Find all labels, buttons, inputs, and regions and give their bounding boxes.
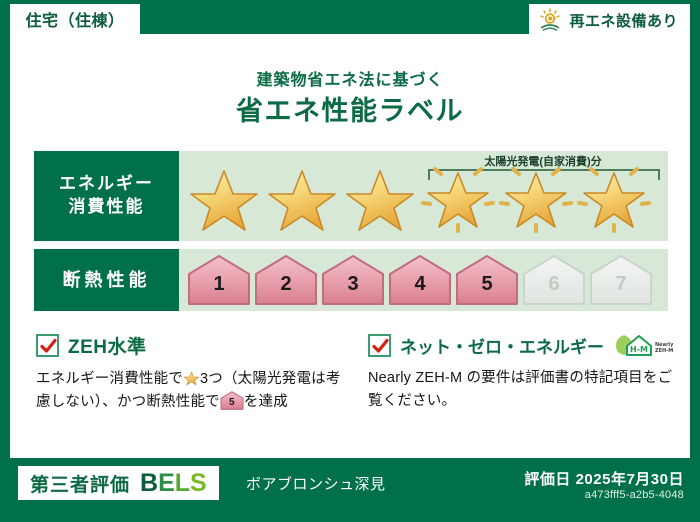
star-item-sparkle (575, 159, 653, 233)
owner-name: ボアブロンシュ深見 (246, 473, 386, 494)
star-icon (497, 159, 575, 233)
star-item-sparkle (497, 159, 575, 233)
zeh-desc-part3: を達成 (244, 394, 288, 410)
title-main: 省エネ性能ラベル (10, 89, 690, 128)
insulation-label-text: 断熱性能 (63, 268, 151, 292)
criteria-net-zero-energy: ネット・ゼロ・エネルギー H-M Nearly ZEH-M Nearly ZEH… (368, 332, 686, 414)
evaluation-date-label: 評価日 (524, 471, 571, 488)
insulation-level-item: 6 (522, 254, 586, 306)
building-type-label: 住宅（住棟） (25, 7, 124, 31)
criteria-zeh-standard: ZEH水準 エネルギー消費性能で3つ（太陽光発電は考慮しない）、かつ断熱性能で5… (36, 332, 354, 415)
star-item-sparkle (419, 159, 497, 233)
star-icon (263, 159, 341, 233)
label-card: 建築物省エネ法に基づく 省エネ性能ラベル エネルギー 消費性能 太陽光発電(自家… (10, 34, 690, 458)
star-icon (185, 159, 263, 233)
insulation-level-item: 3 (321, 254, 385, 306)
title-subtitle: 建築物省エネ法に基づく (10, 66, 690, 90)
insulation-level-item: 1 (187, 254, 251, 306)
insulation-performance-row: 断熱性能 (34, 249, 668, 311)
star-icon (419, 159, 497, 233)
third-party-label: 第三者評価 (30, 470, 130, 497)
bels-letter-s: S (190, 469, 207, 497)
insulation-level-value: 1 (187, 254, 251, 306)
star-item (341, 159, 419, 233)
nearly-zeh-m-logo-icon: H-M Nearly ZEH-M (613, 332, 675, 358)
bels-logo-text: BELS (140, 471, 207, 496)
star-icon (575, 159, 653, 233)
bels-certification-mark: 第三者評価 BELS (18, 466, 219, 500)
insulation-level-value: 3 (321, 254, 385, 306)
zeh-m-caption-line2: ZEH-M (655, 348, 673, 354)
insulation-level-value: 7 (589, 254, 653, 306)
criteria-zeh-header: ZEH水準 (36, 332, 354, 359)
bels-letter-l: L (175, 469, 190, 497)
energy-performance-row: エネルギー 消費性能 太陽光発電(自家消費)分 (34, 151, 668, 241)
insulation-level-value: 4 (388, 254, 452, 306)
insulation-performance-panel: 1 2 3 (179, 249, 668, 311)
insulation-level-item: 4 (388, 254, 452, 306)
insulation-level-item: 7 (589, 254, 653, 306)
building-type-tag: 住宅（住棟） (10, 4, 140, 34)
net-zero-checkbox[interactable] (368, 334, 391, 357)
house-badge-inline-value: 5 (220, 391, 244, 410)
renewable-badge-label: 再エネ設備あり (569, 10, 678, 31)
star-item (263, 159, 341, 233)
insulation-level-value: 6 (522, 254, 586, 306)
zeh-title: ZEH水準 (68, 332, 147, 359)
solar-sun-icon (537, 8, 563, 32)
zeh-desc-part1: エネルギー消費性能で (36, 371, 183, 387)
footer: 第三者評価 BELS ボアブロンシュ深見 評価日 2025年7月30日 a473… (0, 462, 700, 522)
bels-letter-b: B (140, 469, 158, 497)
label-root: 住宅（住棟） 再エネ設備あり 建築物省エネ法に基づく 省エネ性能ラベル (0, 0, 700, 522)
insulation-level-value: 5 (455, 254, 519, 306)
star-rating (179, 151, 668, 241)
star-icon (341, 159, 419, 233)
insulation-level-item: 2 (254, 254, 318, 306)
zeh-checkbox[interactable] (36, 334, 59, 357)
check-icon (39, 337, 58, 356)
criteria-net-zero-header: ネット・ゼロ・エネルギー H-M Nearly ZEH-M (368, 332, 686, 358)
bels-letter-e: E (158, 469, 175, 497)
net-zero-description: Nearly ZEH-M の要件は評価書の特記項目をご覧ください。 (368, 367, 686, 414)
zeh-m-logo-text: H-M (630, 345, 648, 354)
evaluation-id: a473fff5-a2b5-4048 (585, 489, 684, 501)
check-icon (371, 337, 390, 356)
insulation-level-scale: 1 2 3 (179, 249, 668, 311)
renewable-equipment-badge: 再エネ設備あり (529, 4, 690, 36)
energy-performance-label: エネルギー 消費性能 (34, 151, 179, 241)
evaluation-date: 評価日 2025年7月30日 (524, 468, 684, 489)
net-zero-title: ネット・ゼロ・エネルギー (400, 333, 604, 358)
evaluation-date-value: 2025年7月30日 (576, 471, 684, 488)
energy-label-line2: 消費性能 (69, 196, 145, 219)
insulation-performance-label: 断熱性能 (34, 249, 179, 311)
star-icon (183, 369, 200, 386)
insulation-level-item: 5 (455, 254, 519, 306)
insulation-level-value: 2 (254, 254, 318, 306)
energy-label-line1: エネルギー (59, 173, 154, 196)
house-badge-inline: 5 (220, 391, 244, 410)
energy-performance-panel: 太陽光発電(自家消費)分 (179, 151, 668, 241)
zeh-description: エネルギー消費性能で3つ（太陽光発電は考慮しない）、かつ断熱性能で5を達成 (36, 368, 354, 415)
star-item (185, 159, 263, 233)
